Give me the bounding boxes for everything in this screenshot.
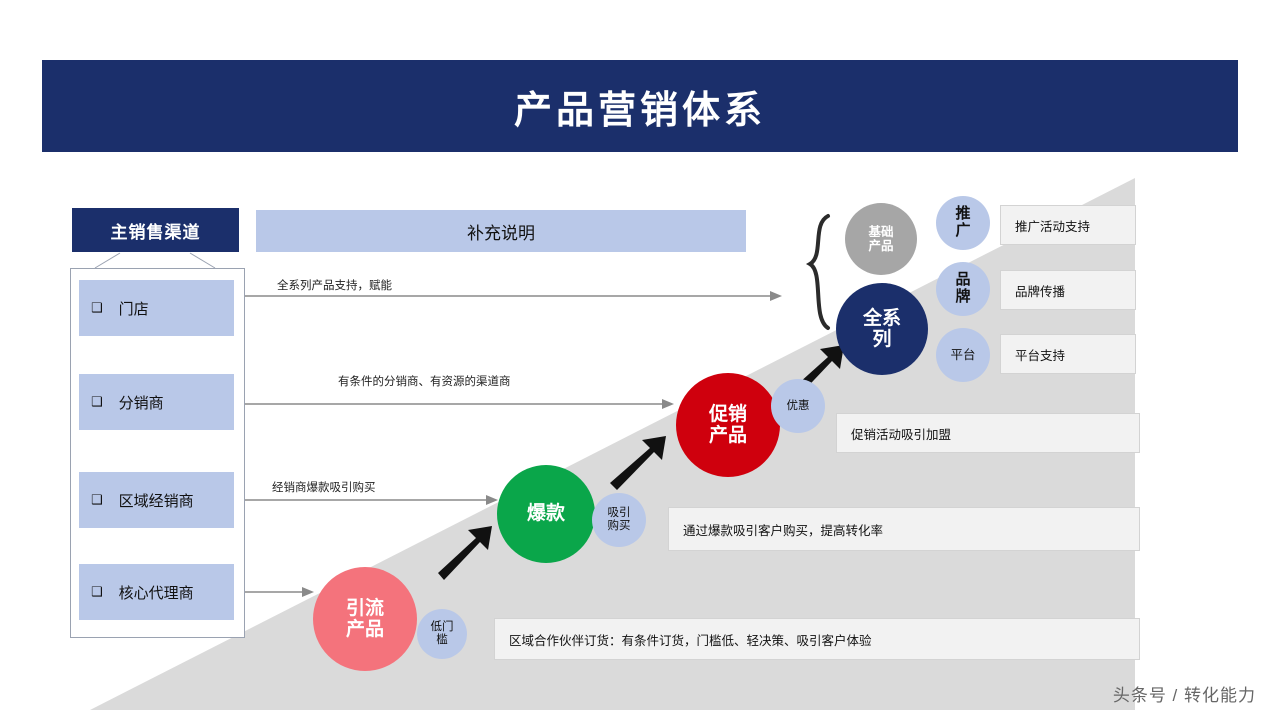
channel-item-label: 分销商 bbox=[119, 392, 164, 413]
circle-line-1: 推 bbox=[955, 206, 970, 223]
circle-low-threshold[interactable]: 低门 槛 bbox=[417, 609, 467, 659]
note-platform: 平台支持 bbox=[1000, 334, 1136, 374]
arrow-caption-fenxiao: 有条件的分销商、有资源的渠道商 bbox=[338, 373, 511, 389]
note-promotion: 推广活动支持 bbox=[1000, 205, 1136, 245]
circle-line-1: 爆款 bbox=[527, 503, 565, 524]
note-brand: 品牌传播 bbox=[1000, 270, 1136, 310]
arrow-caption-jingxiao: 经销商爆款吸引购买 bbox=[272, 479, 376, 495]
note-text: 品牌传播 bbox=[1015, 281, 1065, 300]
note-text: 区域合作伙伴订货：有条件订货，门槛低、轻决策、吸引客户体验 bbox=[509, 630, 872, 649]
channel-item-label: 区域经销商 bbox=[119, 490, 194, 511]
circle-baokuan[interactable]: 爆款 bbox=[497, 465, 595, 563]
circle-line-1: 平台 bbox=[950, 348, 975, 362]
note-text: 推广活动支持 bbox=[1015, 216, 1090, 235]
page-title: 产品营销体系 bbox=[514, 79, 766, 134]
slide-canvas: 产品营销体系 主销售渠道 ❑ 门店 ❑ 分销商 ❑ 区域经销商 ❑ 核心代理商 … bbox=[0, 0, 1280, 720]
circle-full-series[interactable]: 全系 列 bbox=[836, 283, 928, 375]
bullet-icon: ❑ bbox=[91, 300, 103, 316]
channel-item-label: 核心代理商 bbox=[119, 582, 194, 603]
circle-line-1: 基础 bbox=[868, 225, 893, 239]
channel-item-fenxiaoshang[interactable]: ❑ 分销商 bbox=[79, 374, 234, 430]
channel-item-mendian[interactable]: ❑ 门店 bbox=[79, 280, 234, 336]
circle-line-2: 列 bbox=[872, 329, 891, 350]
note-baokuan: 通过爆款吸引客户购买，提高转化率 bbox=[668, 507, 1140, 551]
channel-item-quyujingxiaoshang[interactable]: ❑ 区域经销商 bbox=[79, 472, 234, 528]
channel-item-label: 门店 bbox=[119, 298, 149, 319]
watermark-footer: 头条号 / 转化能力 bbox=[1113, 681, 1256, 706]
circle-line-2: 牌 bbox=[955, 289, 970, 306]
circle-line-2: 购买 bbox=[608, 520, 631, 533]
circle-brand[interactable]: 品 牌 bbox=[936, 262, 990, 316]
circle-line-2: 产品 bbox=[709, 425, 747, 446]
circle-line-2: 广 bbox=[955, 223, 970, 240]
note-text: 平台支持 bbox=[1015, 345, 1065, 364]
channel-header: 主销售渠道 bbox=[72, 208, 239, 252]
circle-line-2: 产品 bbox=[346, 619, 384, 640]
circle-line-1: 吸引 bbox=[608, 507, 631, 520]
bullet-icon: ❑ bbox=[91, 394, 103, 410]
circle-basic-product[interactable]: 基础 产品 bbox=[845, 203, 917, 275]
note-text: 通过爆款吸引客户购买，提高转化率 bbox=[683, 520, 883, 539]
circle-discount[interactable]: 优惠 bbox=[771, 379, 825, 433]
circle-line-1: 引流 bbox=[346, 598, 384, 619]
circle-line-1: 低门 bbox=[431, 621, 454, 634]
bullet-icon: ❑ bbox=[91, 584, 103, 600]
slide-title-bar: 产品营销体系 bbox=[42, 60, 1238, 152]
channel-header-label: 主销售渠道 bbox=[111, 218, 201, 243]
circle-line-1: 优惠 bbox=[787, 400, 810, 413]
channel-item-hexindailishang[interactable]: ❑ 核心代理商 bbox=[79, 564, 234, 620]
circle-line-2: 产品 bbox=[868, 239, 893, 253]
bullet-icon: ❑ bbox=[91, 492, 103, 508]
circle-line-1: 全系 bbox=[863, 308, 901, 329]
circle-attract-purchase[interactable]: 吸引 购买 bbox=[592, 493, 646, 547]
circle-promotion[interactable]: 推 广 bbox=[936, 196, 990, 250]
circle-line-1: 促销 bbox=[709, 404, 747, 425]
note-yinliu: 区域合作伙伴订货：有条件订货，门槛低、轻决策、吸引客户体验 bbox=[494, 618, 1140, 660]
note-text: 促销活动吸引加盟 bbox=[851, 424, 951, 443]
note-cuxiao: 促销活动吸引加盟 bbox=[836, 413, 1140, 453]
arrow-caption-mendian: 全系列产品支持，赋能 bbox=[277, 277, 392, 293]
circle-cuxiao-product[interactable]: 促销 产品 bbox=[676, 373, 780, 477]
circle-yinliu-product[interactable]: 引流 产品 bbox=[313, 567, 417, 671]
circle-platform[interactable]: 平台 bbox=[936, 328, 990, 382]
circle-line-2: 槛 bbox=[436, 634, 448, 647]
circle-line-1: 品 bbox=[955, 272, 970, 289]
supplement-header-label: 补充说明 bbox=[467, 219, 535, 244]
supplement-header: 补充说明 bbox=[256, 210, 746, 252]
